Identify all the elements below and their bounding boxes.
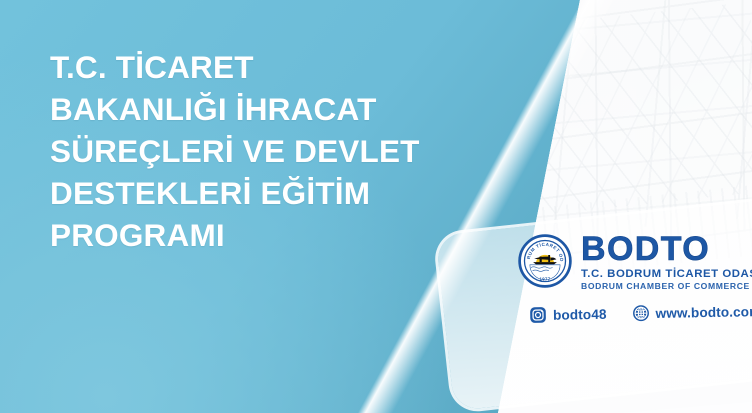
chamber-name-en: BODRUM CHAMBER OF COMMERCE bbox=[581, 282, 752, 291]
headline-line-5: PROGRAMI bbox=[50, 214, 480, 256]
chamber-name-tr: T.C. BODRUM TİCARET ODASI bbox=[581, 269, 752, 280]
bodto-logo: BODRUM TİCARET ODASI 1977 BODTO T.C. BOD… bbox=[518, 231, 752, 291]
headline-line-3: SÜREÇLERİ VE DEVLET bbox=[50, 130, 480, 172]
event-banner: T.C. TİCARET BAKANLIĞI İHRACAT SÜREÇLERİ… bbox=[0, 0, 752, 413]
website-contact[interactable]: www.bodto.com.tr bbox=[631, 302, 752, 323]
instagram-handle[interactable]: bodto48 bbox=[553, 306, 607, 322]
website-url[interactable]: www.bodto.com.tr bbox=[655, 303, 752, 320]
instagram-contact[interactable]: bodto48 bbox=[529, 305, 607, 324]
page-title: T.C. TİCARET BAKANLIĞI İHRACAT SÜREÇLERİ… bbox=[50, 46, 480, 256]
globe-icon[interactable] bbox=[631, 304, 649, 322]
headline-line-4: DESTEKLERİ EĞİTİM bbox=[50, 172, 480, 214]
headline-line-2: BAKANLIĞI İHRACAT bbox=[50, 88, 480, 130]
instagram-icon[interactable] bbox=[529, 306, 547, 324]
bodrum-chamber-seal-icon: BODRUM TİCARET ODASI 1977 bbox=[518, 234, 572, 288]
contact-row: bodto48 www.bodto.com.tr bbox=[529, 302, 752, 324]
bodto-wordmark: BODTO bbox=[581, 232, 752, 266]
headline-line-1: T.C. TİCARET bbox=[50, 46, 480, 88]
svg-text:1977: 1977 bbox=[540, 276, 551, 281]
bodto-wordmark-block: BODTO T.C. BODRUM TİCARET ODASI BODRUM C… bbox=[581, 231, 752, 291]
